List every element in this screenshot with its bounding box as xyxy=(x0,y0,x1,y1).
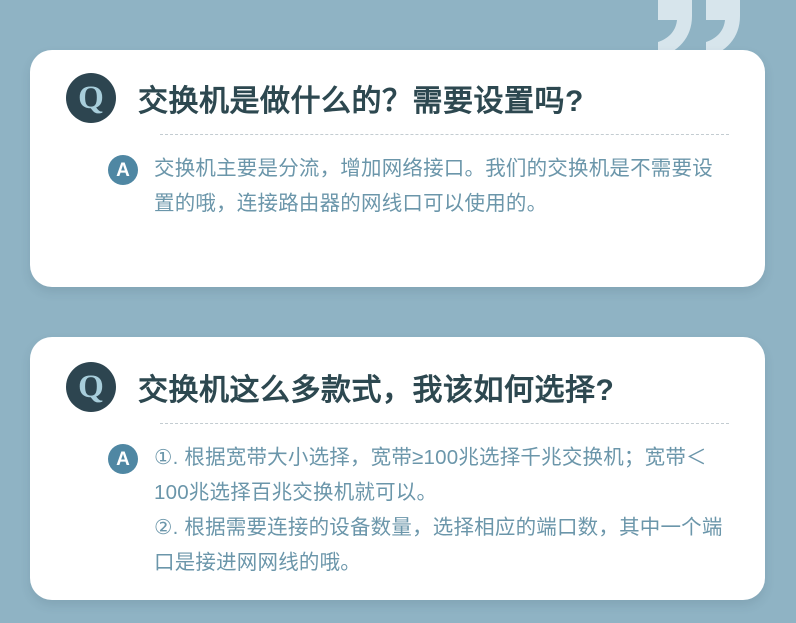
question-badge-icon: Q xyxy=(66,73,116,123)
question-title: 交换机这么多款式，我该如何选择? xyxy=(138,365,614,409)
question-row: Q 交换机是做什么的？需要设置吗? xyxy=(30,50,765,134)
faq-page: Q 交换机是做什么的？需要设置吗? A 交换机主要是分流，增加网络接口。我们的交… xyxy=(0,0,796,623)
answer-text: ①. 根据宽带大小选择，宽带≥100兆选择千兆交换机；宽带＜100兆选择百兆交换… xyxy=(154,440,725,580)
answer-text: 交换机主要是分流，增加网络接口。我们的交换机是不需要设置的哦，连接路由器的网线口… xyxy=(154,151,725,221)
answer-row: A 交换机主要是分流，增加网络接口。我们的交换机是不需要设置的哦，连接路由器的网… xyxy=(30,135,765,221)
question-title: 交换机是做什么的？需要设置吗? xyxy=(138,76,584,120)
question-row: Q 交换机这么多款式，我该如何选择? xyxy=(30,337,765,423)
answer-badge-icon: A xyxy=(108,155,138,185)
faq-card: Q 交换机是做什么的？需要设置吗? A 交换机主要是分流，增加网络接口。我们的交… xyxy=(30,50,765,287)
faq-card: Q 交换机这么多款式，我该如何选择? A ①. 根据宽带大小选择，宽带≥100兆… xyxy=(30,337,765,600)
answer-badge-icon: A xyxy=(108,444,138,474)
question-badge-icon: Q xyxy=(66,362,116,412)
answer-row: A ①. 根据宽带大小选择，宽带≥100兆选择千兆交换机；宽带＜100兆选择百兆… xyxy=(30,424,765,580)
